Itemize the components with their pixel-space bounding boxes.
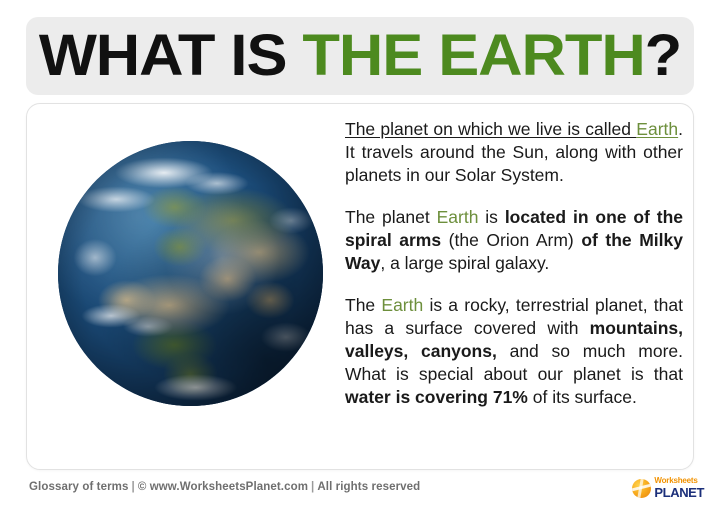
page-title-green-part: THE EARTH xyxy=(302,23,644,88)
page-title-question-mark: ? xyxy=(645,23,682,88)
worksheets-planet-logo[interactable]: Worksheets PLANET xyxy=(632,477,704,499)
page-title: WHAT IS THE EARTH? xyxy=(39,27,681,85)
website-link[interactable]: www.WorksheetsPlanet.com xyxy=(150,481,308,493)
earth-globe-icon xyxy=(58,141,323,406)
globe-shading-layer xyxy=(58,141,323,406)
title-card: WHAT IS THE EARTH? xyxy=(26,17,694,95)
planet-globe-icon xyxy=(632,479,651,498)
p3-lead: The xyxy=(345,295,381,315)
copyright-icon: © xyxy=(138,481,147,493)
content-card: The planet on which we live is called Ea… xyxy=(26,103,694,470)
p3-bold-water-percent: water is covering 71% xyxy=(345,387,528,407)
p2-tail: , a large spiral galaxy. xyxy=(380,253,549,273)
footer-separator-1: | xyxy=(129,481,138,493)
earth-image-container xyxy=(32,126,332,446)
footer-credits: Glossary of terms|© www.WorksheetsPlanet… xyxy=(29,481,420,493)
page-title-black-part: WHAT IS xyxy=(39,23,303,88)
logo-wordmark: Worksheets PLANET xyxy=(654,477,704,499)
footer-bar: Glossary of terms|© www.WorksheetsPlanet… xyxy=(0,477,720,509)
logo-top-word: Worksheets xyxy=(654,477,704,485)
p1-underlined-lead: The planet on which we live is called xyxy=(345,119,636,139)
paragraph-2: The planet Earth is located in one of th… xyxy=(345,206,683,275)
footer-separator-2: | xyxy=(308,481,317,493)
worksheet-page: WHAT IS THE EARTH? The planet on which w… xyxy=(0,0,720,509)
paragraph-3: The Earth is a rocky, terrestrial planet… xyxy=(345,294,683,409)
article-text-column: The planet on which we live is called Ea… xyxy=(345,118,683,409)
p2-is: is xyxy=(478,207,504,227)
p3-earth-highlight: Earth xyxy=(381,295,423,315)
p3-tail: of its surface. xyxy=(528,387,637,407)
p1-earth-highlight: Earth xyxy=(636,119,678,139)
logo-bottom-word: PLANET xyxy=(654,486,704,499)
p2-earth-highlight: Earth xyxy=(437,207,479,227)
glossary-link[interactable]: Glossary of terms xyxy=(29,481,129,493)
p2-orion-arm: (the Orion Arm) xyxy=(441,230,581,250)
p2-lead: The planet xyxy=(345,207,437,227)
rights-reserved-text: All rights reserved xyxy=(317,481,420,493)
paragraph-1: The planet on which we live is called Ea… xyxy=(345,118,683,187)
